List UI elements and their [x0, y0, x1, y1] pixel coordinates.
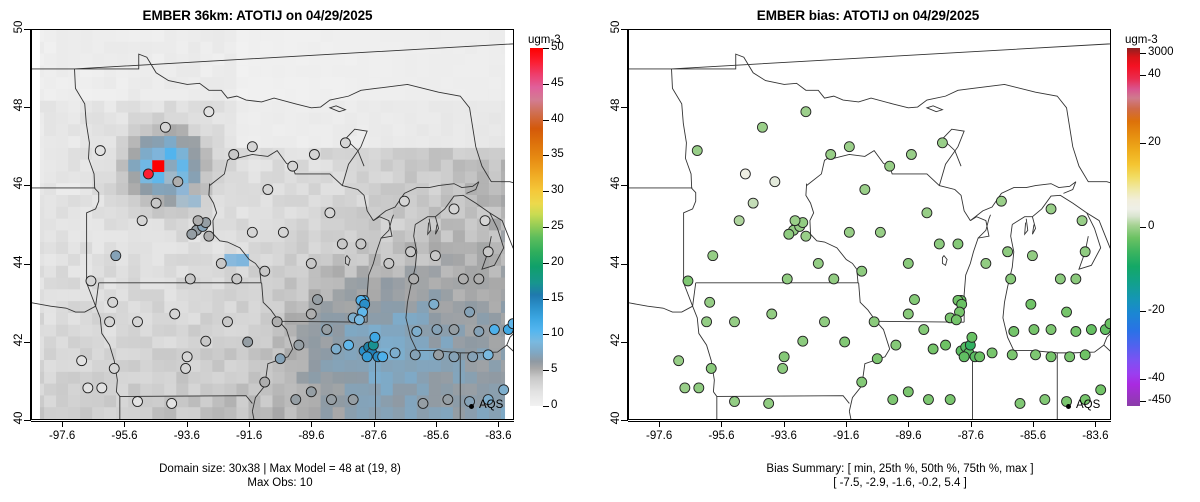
aqs-monitor-point[interactable]	[410, 350, 420, 360]
aqs-monitor-point[interactable]	[384, 258, 394, 268]
aqs-monitor-point[interactable]	[143, 169, 153, 179]
aqs-monitor-point[interactable]	[173, 177, 183, 187]
aqs-monitor-point[interactable]	[779, 352, 789, 362]
model-grid-cell	[104, 348, 117, 360]
model-grid-cell	[236, 77, 249, 89]
aqs-monitor-point[interactable]	[959, 352, 969, 362]
x-tick-mark	[498, 421, 499, 427]
aqs-monitor-point[interactable]	[767, 309, 777, 319]
aqs-monitor-point[interactable]	[489, 325, 499, 335]
aqs-monitor-point[interactable]	[784, 229, 794, 239]
model-grid-cell	[285, 313, 298, 325]
aqs-monitor-point[interactable]	[95, 146, 105, 156]
aqs-monitor-point[interactable]	[185, 274, 195, 284]
colorbar-tick-label: 40	[1148, 68, 1161, 80]
aqs-monitor-point[interactable]	[204, 231, 214, 241]
model-grid-cell	[285, 30, 298, 42]
aqs-monitor-point[interactable]	[483, 350, 493, 360]
model-grid-cell	[200, 148, 213, 160]
aqs-monitor-point[interactable]	[133, 397, 143, 407]
model-grid-cell	[176, 254, 189, 266]
model-grid-cell	[164, 336, 177, 348]
aqs-monitor-point[interactable]	[83, 383, 93, 393]
aqs-monitor-point[interactable]	[903, 387, 913, 397]
aqs-monitor-point[interactable]	[813, 258, 823, 268]
aqs-monitor-point[interactable]	[937, 138, 947, 148]
aqs-monitor-point[interactable]	[1071, 326, 1081, 336]
aqs-monitor-point[interactable]	[201, 336, 211, 346]
aqs-monitor-point[interactable]	[294, 340, 304, 350]
aqs-monitor-point[interactable]	[434, 350, 444, 360]
model-grid-cell	[369, 30, 382, 42]
aqs-monitor-point[interactable]	[730, 317, 740, 327]
aqs-monitor-point[interactable]	[243, 337, 253, 347]
model-grid-cell	[116, 219, 129, 231]
aqs-monitor-point[interactable]	[987, 348, 997, 358]
aqs-monitor-point[interactable]	[105, 317, 115, 327]
model-grid-cell	[152, 101, 165, 113]
aqs-monitor-point[interactable]	[1065, 352, 1075, 362]
aqs-monitor-point[interactable]	[757, 122, 767, 132]
model-grid-cell	[369, 171, 382, 183]
aqs-monitor-point[interactable]	[187, 229, 197, 239]
aqs-monitor-point[interactable]	[981, 258, 991, 268]
model-grid-cell	[405, 207, 418, 219]
model-grid-cell	[56, 242, 69, 254]
model-grid-cell	[152, 219, 165, 231]
model-grid-cell	[429, 124, 442, 136]
aqs-monitor-point[interactable]	[683, 276, 693, 286]
aqs-monitor-point[interactable]	[306, 387, 316, 397]
model-grid-cell	[92, 289, 105, 301]
aqs-monitor-point[interactable]	[499, 385, 509, 395]
model-grid-cell	[164, 89, 177, 101]
model-grid-cell	[188, 113, 201, 125]
aqs-monitor-point[interactable]	[910, 295, 920, 305]
aqs-monitor-point[interactable]	[1040, 395, 1050, 405]
model-grid-cell	[309, 195, 322, 207]
aqs-monitor-point[interactable]	[857, 266, 867, 276]
model-grid-cell	[393, 171, 406, 183]
aqs-monitor-point[interactable]	[331, 344, 341, 354]
model-grid-cell	[345, 407, 358, 419]
model-grid-cell	[441, 30, 454, 42]
model-grid-cell	[453, 384, 466, 396]
model-grid-cell	[441, 148, 454, 160]
model-grid-cell	[68, 101, 81, 113]
aqs-monitor-point[interactable]	[945, 395, 955, 405]
aqs-monitor-point[interactable]	[306, 258, 316, 268]
model-grid-cell	[200, 77, 213, 89]
aqs-monitor-point[interactable]	[740, 169, 750, 179]
model-grid-cell	[453, 30, 466, 42]
model-grid-cell	[56, 254, 69, 266]
aqs-monitor-point[interactable]	[356, 239, 366, 249]
aqs-monitor-point[interactable]	[1015, 398, 1025, 408]
model-grid-cell	[56, 54, 69, 66]
model-grid-cell	[176, 30, 189, 42]
model-grid-cell	[92, 242, 105, 254]
aqs-monitor-point[interactable]	[432, 325, 442, 335]
aqs-monitor-point[interactable]	[275, 354, 285, 364]
aqs-monitor-point[interactable]	[702, 317, 712, 327]
model-grid-cell	[116, 372, 129, 384]
model-grid-cell	[248, 183, 261, 195]
model-grid-cell	[44, 266, 57, 278]
aqs-monitor-point[interactable]	[951, 315, 961, 325]
model-grid-cell	[224, 336, 237, 348]
aqs-monitor-point[interactable]	[272, 317, 282, 327]
aqs-monitor-point[interactable]	[1062, 307, 1072, 317]
aqs-monitor-point[interactable]	[412, 326, 422, 336]
aqs-monitor-point[interactable]	[692, 146, 702, 156]
aqs-monitor-point[interactable]	[996, 196, 1006, 206]
model-grid-cell	[44, 242, 57, 254]
model-grid-cell	[441, 124, 454, 136]
model-grid-cell	[381, 384, 394, 396]
model-grid-cell	[260, 207, 273, 219]
aqs-monitor-point[interactable]	[449, 352, 459, 362]
model-grid-cell	[260, 348, 273, 360]
aqs-monitor-point[interactable]	[680, 383, 690, 393]
aqs-monitor-point[interactable]	[840, 337, 850, 347]
aqs-monitor-point[interactable]	[953, 239, 963, 249]
aqs-monitor-point[interactable]	[1071, 274, 1081, 284]
model-grid-cell	[56, 148, 69, 160]
aqs-monitor-point[interactable]	[798, 336, 808, 346]
model-grid-cell	[357, 195, 370, 207]
model-grid-cell	[345, 301, 358, 313]
aqs-monitor-point[interactable]	[829, 274, 839, 284]
aqs-monitor-point[interactable]	[748, 198, 758, 208]
model-grid-cell	[56, 89, 69, 101]
aqs-monitor-point[interactable]	[1027, 251, 1037, 261]
model-grid-cell	[68, 407, 81, 419]
model-grid-cell	[260, 301, 273, 313]
aqs-monitor-point[interactable]	[967, 332, 977, 342]
aqs-monitor-point[interactable]	[430, 251, 440, 261]
model-grid-cell	[116, 89, 129, 101]
model-grid-cell	[441, 254, 454, 266]
aqs-monitor-point[interactable]	[1026, 299, 1036, 309]
model-grid-cell	[441, 301, 454, 313]
model-grid-cell	[417, 89, 430, 101]
model-grid-cell	[417, 372, 430, 384]
aqs-monitor-point[interactable]	[888, 395, 898, 405]
aqs-monitor-point[interactable]	[108, 297, 118, 307]
aqs-monitor-point[interactable]	[340, 138, 350, 148]
aqs-monitor-point[interactable]	[418, 398, 428, 408]
aqs-monitor-point[interactable]	[223, 317, 233, 327]
aqs-monitor-point[interactable]	[137, 216, 147, 226]
model-grid-cell	[477, 289, 490, 301]
aqs-monitor-point[interactable]	[922, 208, 932, 218]
plot-margin-fill	[505, 30, 513, 419]
aqs-monitor-point[interactable]	[370, 332, 380, 342]
model-grid-cell	[333, 313, 346, 325]
aqs-monitor-point[interactable]	[1006, 274, 1016, 284]
aqs-monitor-point[interactable]	[844, 142, 854, 152]
model-grid-cell	[188, 301, 201, 313]
aqs-monitor-point[interactable]	[790, 216, 800, 226]
aqs-monitor-point[interactable]	[708, 251, 718, 261]
aqs-legend-dot-model	[469, 404, 474, 409]
aqs-monitor-point[interactable]	[919, 325, 929, 335]
aqs-monitor-point[interactable]	[782, 274, 792, 284]
aqs-monitor-point[interactable]	[429, 299, 439, 309]
aqs-monitor-point[interactable]	[443, 395, 453, 405]
model-grid-cell	[393, 325, 406, 337]
aqs-monitor-point[interactable]	[928, 344, 938, 354]
model-grid-cell	[393, 183, 406, 195]
aqs-monitor-point[interactable]	[465, 307, 475, 317]
aqs-monitor-point[interactable]	[151, 198, 161, 208]
aqs-monitor-point[interactable]	[260, 266, 270, 276]
aqs-monitor-point[interactable]	[278, 227, 288, 237]
aqs-monitor-point[interactable]	[1080, 247, 1090, 257]
model-grid-cell	[489, 336, 502, 348]
model-grid-cell	[297, 219, 310, 231]
aqs-monitor-point[interactable]	[872, 354, 882, 364]
model-grid-cell	[321, 313, 334, 325]
aqs-monitor-point[interactable]	[86, 276, 96, 286]
aqs-monitor-point[interactable]	[764, 398, 774, 408]
aqs-monitor-point[interactable]	[409, 274, 419, 284]
aqs-monitor-point[interactable]	[77, 356, 87, 366]
model-grid-cell	[309, 160, 322, 172]
aqs-monitor-point[interactable]	[975, 352, 985, 362]
aqs-monitor-point[interactable]	[468, 352, 478, 362]
aqs-monitor-point[interactable]	[1031, 350, 1041, 360]
model-grid-cell	[465, 254, 478, 266]
aqs-monitor-point[interactable]	[232, 274, 242, 284]
aqs-monitor-point[interactable]	[801, 231, 811, 241]
aqs-monitor-point[interactable]	[306, 309, 316, 319]
model-grid-cell	[369, 136, 382, 148]
model-grid-cell	[128, 30, 141, 42]
model-grid-cell	[477, 148, 490, 160]
aqs-monitor-point[interactable]	[906, 150, 916, 160]
model-grid-cell	[477, 65, 490, 77]
aqs-monitor-point[interactable]	[875, 227, 885, 237]
aqs-monitor-point[interactable]	[778, 363, 788, 373]
model-grid-cell	[345, 207, 358, 219]
aqs-monitor-point[interactable]	[934, 239, 944, 249]
aqs-monitor-point[interactable]	[1055, 274, 1065, 284]
aqs-monitor-point[interactable]	[337, 239, 347, 249]
aqs-monitor-point[interactable]	[1003, 247, 1013, 257]
aqs-monitor-point[interactable]	[354, 315, 364, 325]
aqs-monitor-point[interactable]	[260, 377, 270, 387]
aqs-monitor-point[interactable]	[288, 161, 298, 171]
model-grid-cell	[92, 101, 105, 113]
aqs-monitor-point[interactable]	[730, 397, 740, 407]
aqs-monitor-point[interactable]	[322, 325, 332, 335]
model-grid-cell	[369, 301, 382, 313]
x-tick-label: -91.6	[816, 430, 876, 442]
model-grid-cell	[68, 148, 81, 160]
model-grid-cell	[44, 160, 57, 172]
model-grid-cell	[260, 171, 273, 183]
aqs-monitor-point[interactable]	[869, 317, 879, 327]
aqs-monitor-point[interactable]	[1086, 325, 1096, 335]
aqs-monitor-point[interactable]	[399, 196, 409, 206]
y-tick-label: 46	[610, 168, 622, 198]
model-grid-cell	[369, 395, 382, 407]
model-grid-cell	[212, 42, 225, 54]
aqs-monitor-point[interactable]	[706, 363, 716, 373]
aqs-monitor-point[interactable]	[378, 352, 388, 362]
aqs-monitor-point[interactable]	[474, 274, 484, 284]
model-grid-cell	[273, 54, 286, 66]
x-tick-mark	[62, 421, 63, 427]
model-grid-cell	[393, 384, 406, 396]
model-grid-cell	[236, 42, 249, 54]
model-grid-cell	[465, 89, 478, 101]
model-grid-cell	[248, 289, 261, 301]
model-grid-cell	[477, 54, 490, 66]
aqs-monitor-point[interactable]	[1096, 385, 1106, 395]
aqs-monitor-point[interactable]	[313, 295, 323, 305]
model-grid-cell	[92, 54, 105, 66]
model-grid-cell	[56, 195, 69, 207]
aqs-monitor-point[interactable]	[857, 377, 867, 387]
aqs-monitor-point[interactable]	[109, 363, 119, 373]
aqs-monitor-point[interactable]	[694, 383, 704, 393]
aqs-monitor-point[interactable]	[325, 208, 335, 218]
aqs-monitor-point[interactable]	[204, 107, 214, 117]
model-grid-cell	[236, 407, 249, 419]
aqs-monitor-point[interactable]	[1046, 204, 1056, 214]
aqs-monitor-point[interactable]	[167, 398, 177, 408]
aqs-monitor-point[interactable]	[801, 107, 811, 117]
model-grid-cell	[248, 89, 261, 101]
aqs-monitor-point[interactable]	[860, 185, 870, 195]
model-grid-cell	[321, 160, 334, 172]
aqs-monitor-point[interactable]	[770, 177, 780, 187]
model-grid-cell	[260, 254, 273, 266]
model-grid-cell	[309, 230, 322, 242]
model-grid-cell	[309, 113, 322, 125]
model-grid-cell	[176, 207, 189, 219]
aqs-monitor-point[interactable]	[941, 340, 951, 350]
aqs-monitor-point[interactable]	[474, 326, 484, 336]
aqs-monitor-point[interactable]	[1080, 350, 1090, 360]
aqs-monitor-point[interactable]	[193, 216, 203, 226]
model-grid-cell	[164, 278, 177, 290]
aqs-monitor-point[interactable]	[923, 395, 933, 405]
model-grid-cell	[285, 266, 298, 278]
aqs-monitor-point[interactable]	[182, 352, 192, 362]
aqs-monitor-point[interactable]	[903, 309, 913, 319]
model-grid-cell	[393, 113, 406, 125]
aqs-monitor-point[interactable]	[1009, 326, 1019, 336]
model-grid-cell	[176, 65, 189, 77]
colorbar-tick-label: 30	[551, 184, 564, 196]
model-grid-cell	[321, 372, 334, 384]
aqs-monitor-point[interactable]	[826, 150, 836, 160]
aqs-monitor-point[interactable]	[1007, 350, 1017, 360]
aqs-monitor-point[interactable]	[326, 395, 336, 405]
aqs-monitor-point[interactable]	[480, 216, 490, 226]
colorbar-tick-mark	[543, 334, 549, 335]
model-grid-cell	[164, 42, 177, 54]
aqs-monitor-point[interactable]	[734, 216, 744, 226]
model-grid-cell	[92, 89, 105, 101]
aqs-monitor-point[interactable]	[1046, 325, 1056, 335]
model-grid-cell	[152, 65, 165, 77]
map-border-path	[1104, 345, 1110, 364]
model-grid-cell	[297, 148, 310, 160]
model-grid-cell	[381, 101, 394, 113]
model-grid-cell	[236, 360, 249, 372]
aqs-monitor-point[interactable]	[406, 247, 416, 257]
aqs-monitor-point[interactable]	[344, 340, 354, 350]
model-grid-cell	[188, 325, 201, 337]
aqs-monitor-point[interactable]	[247, 227, 257, 237]
model-grid-cell	[285, 113, 298, 125]
bias-map-svg	[629, 30, 1110, 419]
model-grid-cell	[176, 136, 189, 148]
aqs-monitor-point[interactable]	[1077, 216, 1087, 226]
aqs-monitor-point[interactable]	[263, 185, 273, 195]
aqs-monitor-point[interactable]	[160, 122, 170, 132]
aqs-monitor-point[interactable]	[348, 395, 358, 405]
model-grid-cell	[333, 407, 346, 419]
aqs-monitor-point[interactable]	[362, 352, 372, 362]
aqs-monitor-point[interactable]	[820, 317, 830, 327]
model-grid-cell	[285, 325, 298, 337]
aqs-monitor-point[interactable]	[216, 258, 226, 268]
aqs-monitor-point[interactable]	[1029, 325, 1039, 335]
aqs-monitor-point[interactable]	[705, 297, 715, 307]
aqs-monitor-point[interactable]	[170, 309, 180, 319]
colorbar-tick-label: 20	[1148, 136, 1161, 148]
aqs-monitor-point[interactable]	[291, 395, 301, 405]
model-grid-cell	[224, 219, 237, 231]
aqs-monitor-point[interactable]	[390, 348, 400, 358]
aqs-monitor-point[interactable]	[247, 142, 257, 152]
aqs-monitor-point[interactable]	[891, 340, 901, 350]
model-grid-cell	[285, 289, 298, 301]
aqs-monitor-point[interactable]	[674, 356, 684, 366]
aqs-monitor-point[interactable]	[449, 325, 459, 335]
aqs-monitor-point[interactable]	[133, 317, 143, 327]
aqs-monitor-point[interactable]	[97, 383, 107, 393]
aqs-monitor-point[interactable]	[449, 204, 459, 214]
model-grid-cell	[285, 42, 298, 54]
model-grid-cell	[80, 136, 93, 148]
model-grid-cell	[152, 336, 165, 348]
aqs-monitor-point[interactable]	[458, 274, 468, 284]
model-grid-cell	[248, 195, 261, 207]
aqs-monitor-point[interactable]	[229, 150, 239, 160]
aqs-monitor-point[interactable]	[181, 363, 191, 373]
aqs-monitor-point[interactable]	[903, 258, 913, 268]
aqs-monitor-point[interactable]	[111, 251, 121, 261]
model-grid-cell	[236, 289, 249, 301]
aqs-monitor-point[interactable]	[309, 150, 319, 160]
model-grid-cell	[212, 219, 225, 231]
aqs-monitor-point[interactable]	[844, 227, 854, 237]
aqs-monitor-point[interactable]	[1046, 352, 1056, 362]
model-grid-cell	[80, 313, 93, 325]
model-grid-cell	[164, 360, 177, 372]
model-grid-cell	[345, 113, 358, 125]
model-grid-cell	[128, 183, 141, 195]
aqs-monitor-point[interactable]	[483, 247, 493, 257]
aqs-monitor-point[interactable]	[885, 161, 895, 171]
